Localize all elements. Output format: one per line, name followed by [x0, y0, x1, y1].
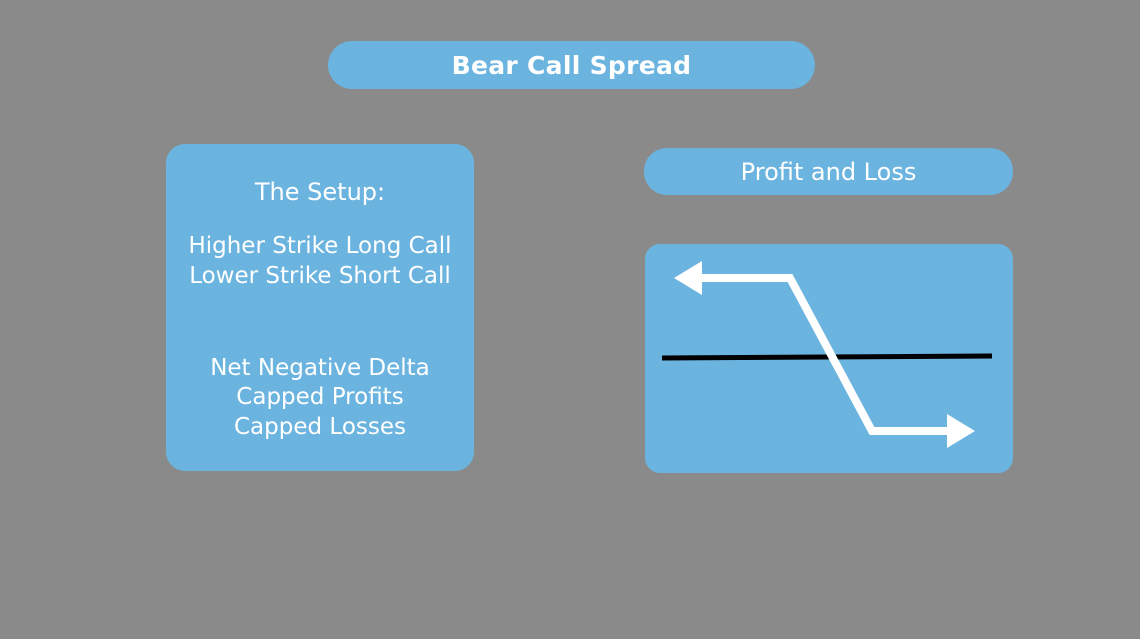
profit-and-loss-pill: Profit and Loss [644, 148, 1013, 195]
zero-axis-line [662, 356, 992, 358]
setup-line-capped-profits: Capped Profits [166, 383, 474, 413]
right-arrow-icon [947, 414, 975, 448]
setup-line-net-negative-delta: Net Negative Delta [166, 354, 474, 384]
slide-canvas: Bear Call Spread The Setup: Higher Strik… [0, 0, 1140, 639]
left-arrow-icon [674, 261, 702, 295]
setup-heading: The Setup: [166, 178, 474, 208]
setup-group-strikes: Higher Strike Long Call Lower Strike Sho… [166, 232, 474, 292]
setup-group-characteristics: Net Negative Delta Capped Profits Capped… [166, 354, 474, 444]
setup-line-higher-strike-long-call: Higher Strike Long Call [166, 232, 474, 262]
payoff-chart-panel [645, 244, 1013, 473]
profit-and-loss-label: Profit and Loss [741, 160, 917, 184]
payoff-diagram-svg [645, 244, 1013, 473]
slide-title-pill: Bear Call Spread [328, 41, 815, 89]
setup-line-capped-losses: Capped Losses [166, 413, 474, 443]
page-title: Bear Call Spread [452, 53, 692, 78]
setup-panel: The Setup: Higher Strike Long Call Lower… [166, 144, 474, 471]
setup-line-lower-strike-short-call: Lower Strike Short Call [166, 262, 474, 292]
